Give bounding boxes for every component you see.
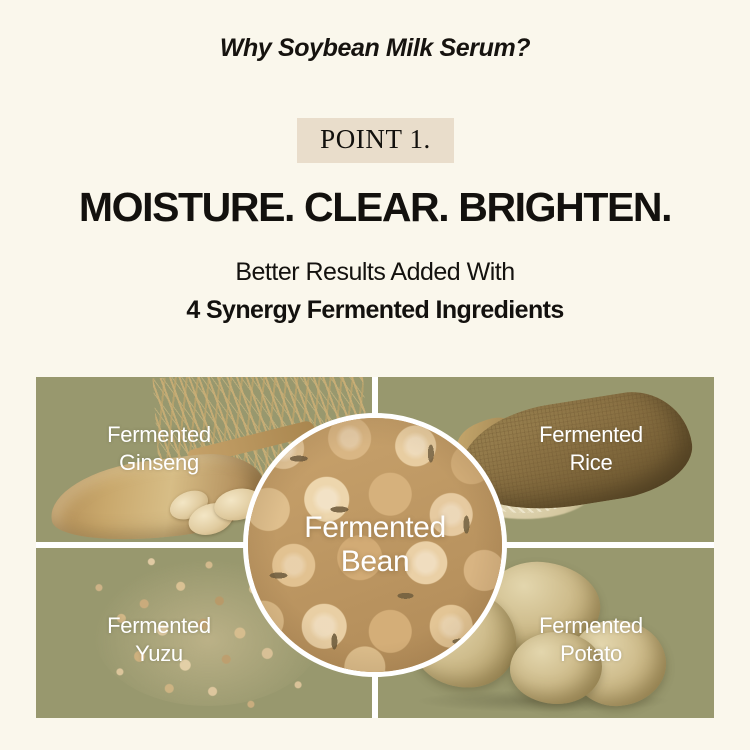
center-circle-label-bean: Fermented Bean [248, 418, 502, 672]
point-badge: POINT 1. [297, 118, 454, 163]
page-title: MOISTURE. CLEAR. BRIGHTEN. [0, 185, 750, 230]
promo-page: Why Soybean Milk Serum? POINT 1. MOISTUR… [0, 0, 750, 750]
point-badge-label: POINT 1. [320, 126, 431, 155]
subtitle-line-1: Better Results Added With [0, 258, 750, 287]
center-circle-bean[interactable]: Fermented Bean [243, 413, 507, 677]
grid-cell-label-potato: Fermented Potato [496, 612, 686, 668]
grid-cell-label-rice: Fermented Rice [496, 421, 686, 477]
grid-cell-label-yuzu: Fermented Yuzu [64, 612, 254, 668]
subtitle-line-2: 4 Synergy Fermented Ingredients [0, 296, 750, 325]
ingredient-grid: Fermented Ginseng Fermented Rice Ferment… [36, 377, 714, 718]
page-eyebrow: Why Soybean Milk Serum? [0, 36, 750, 61]
grid-cell-label-ginseng: Fermented Ginseng [64, 421, 254, 477]
